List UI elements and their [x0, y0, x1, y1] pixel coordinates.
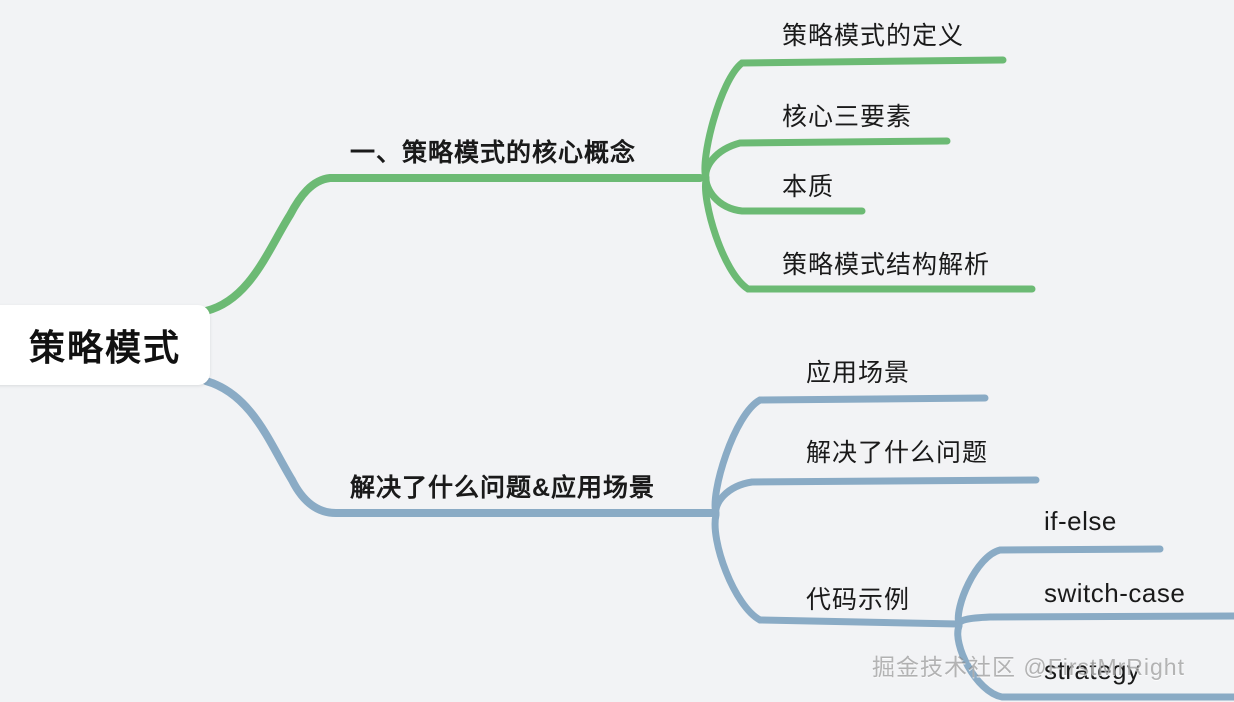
- leaf-node-switch-case[interactable]: switch-case: [1044, 578, 1185, 609]
- branch-line-blue-child-1: [716, 480, 1036, 514]
- leaf-node-if-else[interactable]: if-else: [1044, 506, 1117, 537]
- leaf-node-structure-analysis[interactable]: 策略模式结构解析: [782, 245, 990, 281]
- leaf-node-what-problem-solved[interactable]: 解决了什么问题: [806, 433, 988, 469]
- branch-node-core-concepts[interactable]: 一、策略模式的核心概念: [350, 133, 636, 169]
- leaf-node-three-elements[interactable]: 核心三要素: [782, 97, 912, 133]
- branch-node-problems-and-scenarios[interactable]: 解决了什么问题&应用场景: [350, 468, 655, 504]
- leaf-node-essence[interactable]: 本质: [782, 167, 834, 203]
- branch-line-trunk-green: [206, 178, 700, 311]
- root-node-label: 策略模式: [29, 319, 181, 371]
- leaf-node-definition[interactable]: 策略模式的定义: [782, 16, 964, 52]
- branch-line-code-child-1: [959, 616, 1234, 625]
- root-node[interactable]: 策略模式: [0, 305, 210, 385]
- leaf-node-code-example[interactable]: 代码示例: [806, 580, 910, 616]
- leaf-node-use-cases[interactable]: 应用场景: [806, 353, 910, 389]
- mindmap-canvas: 策略模式 一、策略模式的核心概念 解决了什么问题&应用场景 策略模式的定义 核心…: [0, 0, 1234, 702]
- watermark-text: 掘金技术社区 @FirstMrRight: [872, 648, 1185, 682]
